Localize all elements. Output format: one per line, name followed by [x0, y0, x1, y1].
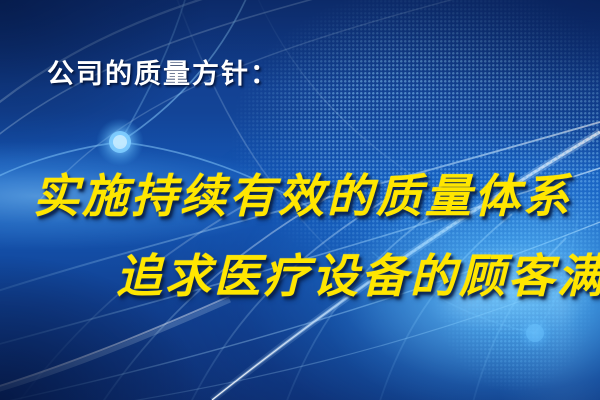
light-streak — [0, 296, 230, 395]
policy-line-2: 追求医疗设备的顾客满意 — [116, 240, 600, 306]
quality-policy-slide: 公司的质量方针： 实施持续有效的质量体系 追求医疗设备的顾客满意 — [0, 0, 600, 400]
page-title: 公司的质量方针： — [47, 52, 279, 91]
policy-line-1: 实施持续有效的质量体系 — [33, 160, 572, 226]
